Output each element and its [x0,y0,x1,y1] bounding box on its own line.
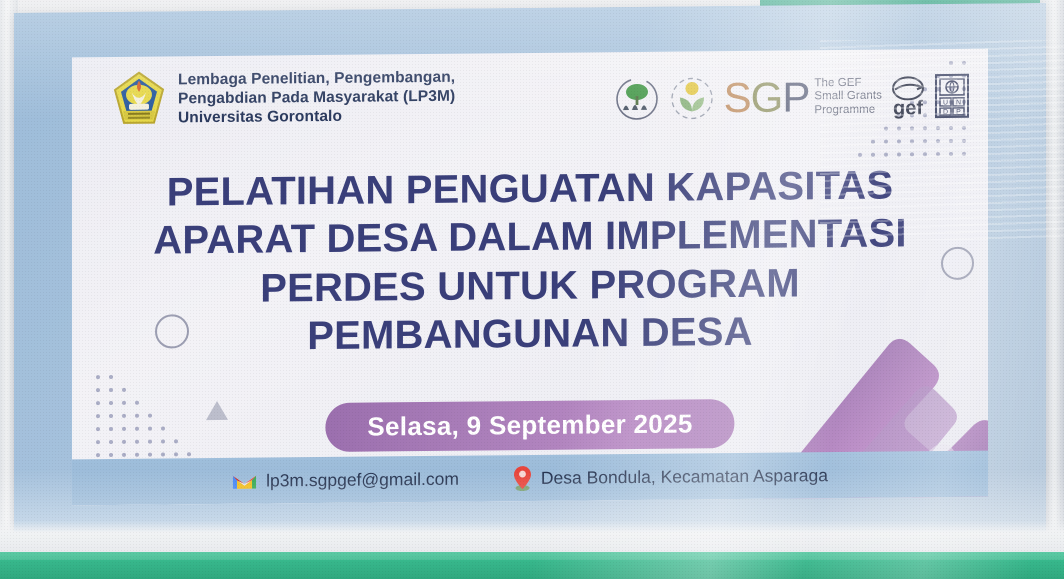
sgp-logo: SGP The GEF Small Grants Programme [724,76,882,120]
svg-text:P: P [956,109,961,116]
undp-logo-icon: U N D P [934,73,970,119]
sgp-letter-g: G [751,74,783,121]
institution-line-1: Lembaga Penelitian, Pengembangan, [178,68,455,90]
title-line-3: PERDES UNTUK PROGRAM [72,257,988,314]
sgp-letters: SGP [724,76,810,119]
banner-header: Lembaga Penelitian, Pengembangan, Pengab… [112,59,970,145]
banner-footer: lp3m.sgpgef@gmail.com Desa Bondula, Keca… [72,451,988,506]
sun-leaf-circle-icon [669,75,715,121]
title-line-4: PEMBANGUNAN DESA [72,306,988,363]
map-pin-icon [513,465,532,491]
photo-scene: Lembaga Penelitian, Pengembangan, Pengab… [0,0,1064,579]
sgp-subtitle-line-1: The GEF [814,77,882,91]
institution-line-3: Universitas Gorontalo [178,106,455,128]
footer-email-item: lp3m.sgpgef@gmail.com [232,468,459,491]
sgp-subtitle: The GEF Small Grants Programme [814,77,882,118]
sgp-letter-p: P [782,73,809,120]
footer-location-text: Desa Bondula, Kecamatan Asparaga [541,465,828,489]
gef-wordmark: gef [893,99,923,117]
event-banner: Lembaga Penelitian, Pengembangan, Pengab… [14,3,1046,549]
title-line-2: APARAT DESA DALAM IMPLEMENTASI [72,209,988,266]
footer-location-item: Desa Bondula, Kecamatan Asparaga [513,462,828,491]
title-line-1: PELATIHAN PENGUATAN KAPASITAS [72,161,988,218]
gmail-icon [232,471,257,490]
institution-name: Lembaga Penelitian, Pengembangan, Pengab… [178,68,455,128]
svg-text:D: D [943,109,948,116]
banner-content-card: Lembaga Penelitian, Pengembangan, Pengab… [72,49,988,506]
background-bottom-strip [0,520,1064,556]
eco-tree-circle-icon [614,76,660,122]
sgp-letter-s: S [724,74,751,121]
universitas-gorontalo-crest-icon [112,70,166,131]
partner-logos: SGP The GEF Small Grants Programme [614,67,970,128]
footer-email-text: lp3m.sgpgef@gmail.com [266,468,459,491]
sgp-subtitle-line-3: Programme [814,103,882,117]
sgp-subtitle-line-2: Small Grants [814,90,882,104]
event-title: PELATIHAN PENGUATAN KAPASITAS APARAT DES… [72,161,988,363]
svg-text:N: N [956,99,961,106]
background-green-strip-bottom [0,552,1064,579]
decorative-triangle [206,401,228,420]
event-date-badge: Selasa, 9 September 2025 [325,399,734,452]
svg-text:U: U [943,99,948,106]
institution-line-2: Pengabdian Pada Masyarakat (LP3M) [178,87,455,109]
gef-logo: gef [891,75,925,117]
